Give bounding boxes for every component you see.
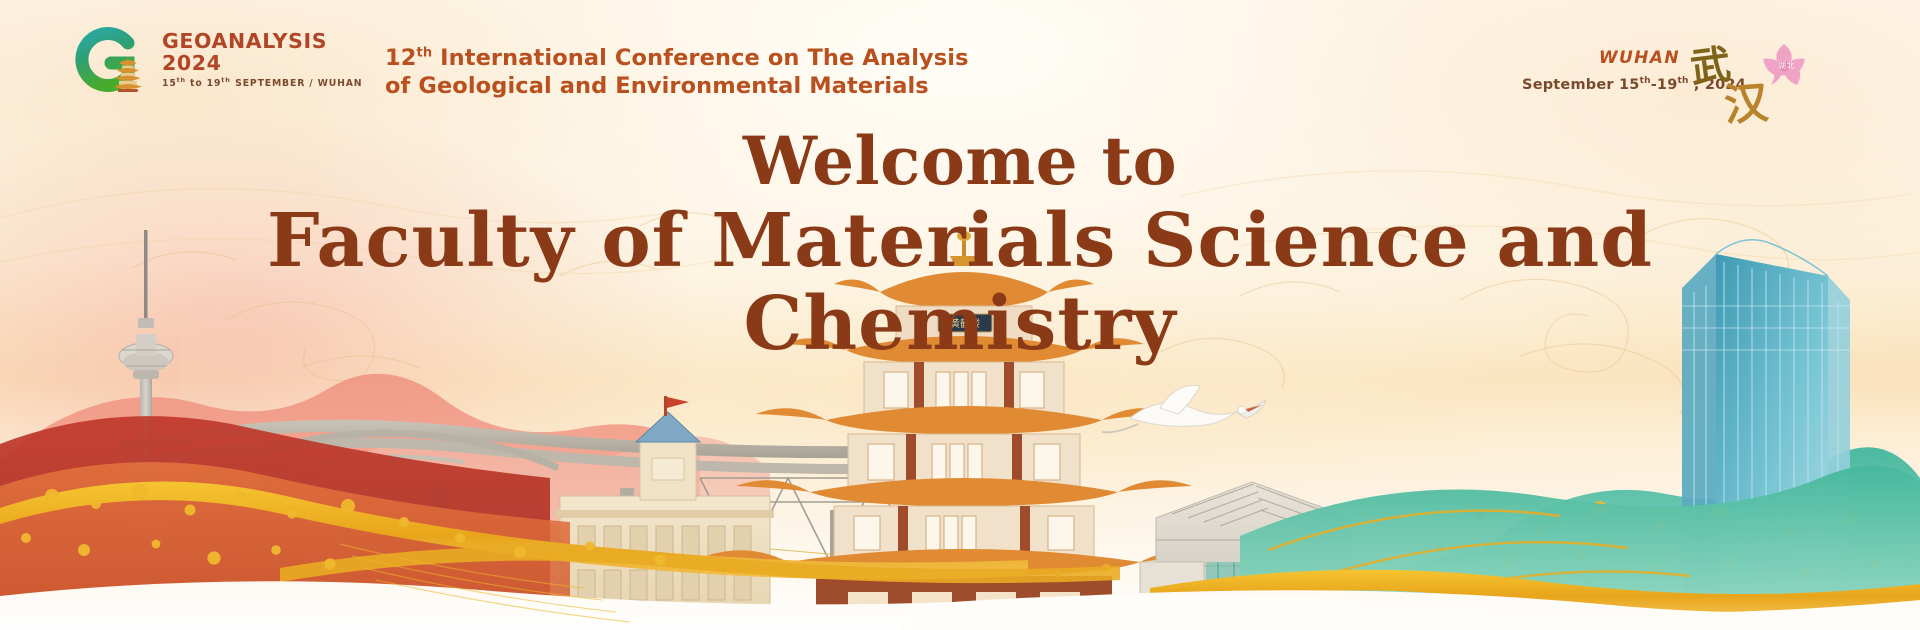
banner-header: GEOANALYSIS 2024 15th to 19th SEPTEMBER … xyxy=(0,0,1920,118)
conference-title-line2: of Geological and Environmental Material… xyxy=(385,72,969,100)
hubei-province-label: 湖北 xyxy=(1778,60,1795,71)
wuhan-city-name: WUHAN xyxy=(1599,48,1680,68)
logo-title: GEOANALYSIS xyxy=(162,31,362,52)
conference-title: 12th International Conference on The Ana… xyxy=(385,44,969,101)
welcome-line-1: Welcome to xyxy=(0,128,1920,194)
logo-dates: 15th to 19th SEPTEMBER / WUHAN xyxy=(162,76,362,89)
conference-ordinal: 12 xyxy=(385,45,417,71)
logo-dates-place: SEPTEMBER / WUHAN xyxy=(235,78,362,89)
logo-year: 2024 xyxy=(162,52,362,74)
wuhan-date-sup1: th xyxy=(1640,76,1651,86)
conference-banner: 黄鹤楼 xyxy=(0,0,1920,630)
logo-dates-start-sup: th xyxy=(177,76,186,84)
logo-dates-mid: to 19 xyxy=(186,78,221,89)
wuhan-date-prefix: September 15 xyxy=(1522,77,1640,93)
conference-ordinal-sup: th xyxy=(417,46,433,61)
geoanalysis-logo[interactable]: GEOANALYSIS 2024 15th to 19th SEPTEMBER … xyxy=(66,26,362,92)
welcome-line-3: Chemistry xyxy=(0,283,1920,366)
wuhan-chinese-calligraphy: 武 汉 湖北 xyxy=(1672,32,1842,118)
wuhan-host-city-block: WUHAN September 15th-19th , 2024 xyxy=(1526,34,1856,112)
welcome-headline: Welcome to Faculty of Materials Science … xyxy=(0,128,1920,366)
wuhan-char-han: 汉 xyxy=(1722,67,1770,134)
logo-dates-start: 15 xyxy=(162,78,177,89)
conference-title-line1: 12th International Conference on The Ana… xyxy=(385,44,969,72)
geoanalysis-g-logo-icon xyxy=(66,26,152,92)
conference-title-text1: International Conference on The Analysis xyxy=(432,45,968,71)
logo-dates-mid-sup: th xyxy=(221,76,230,84)
welcome-line-2: Faculty of Materials Science and xyxy=(0,200,1920,283)
